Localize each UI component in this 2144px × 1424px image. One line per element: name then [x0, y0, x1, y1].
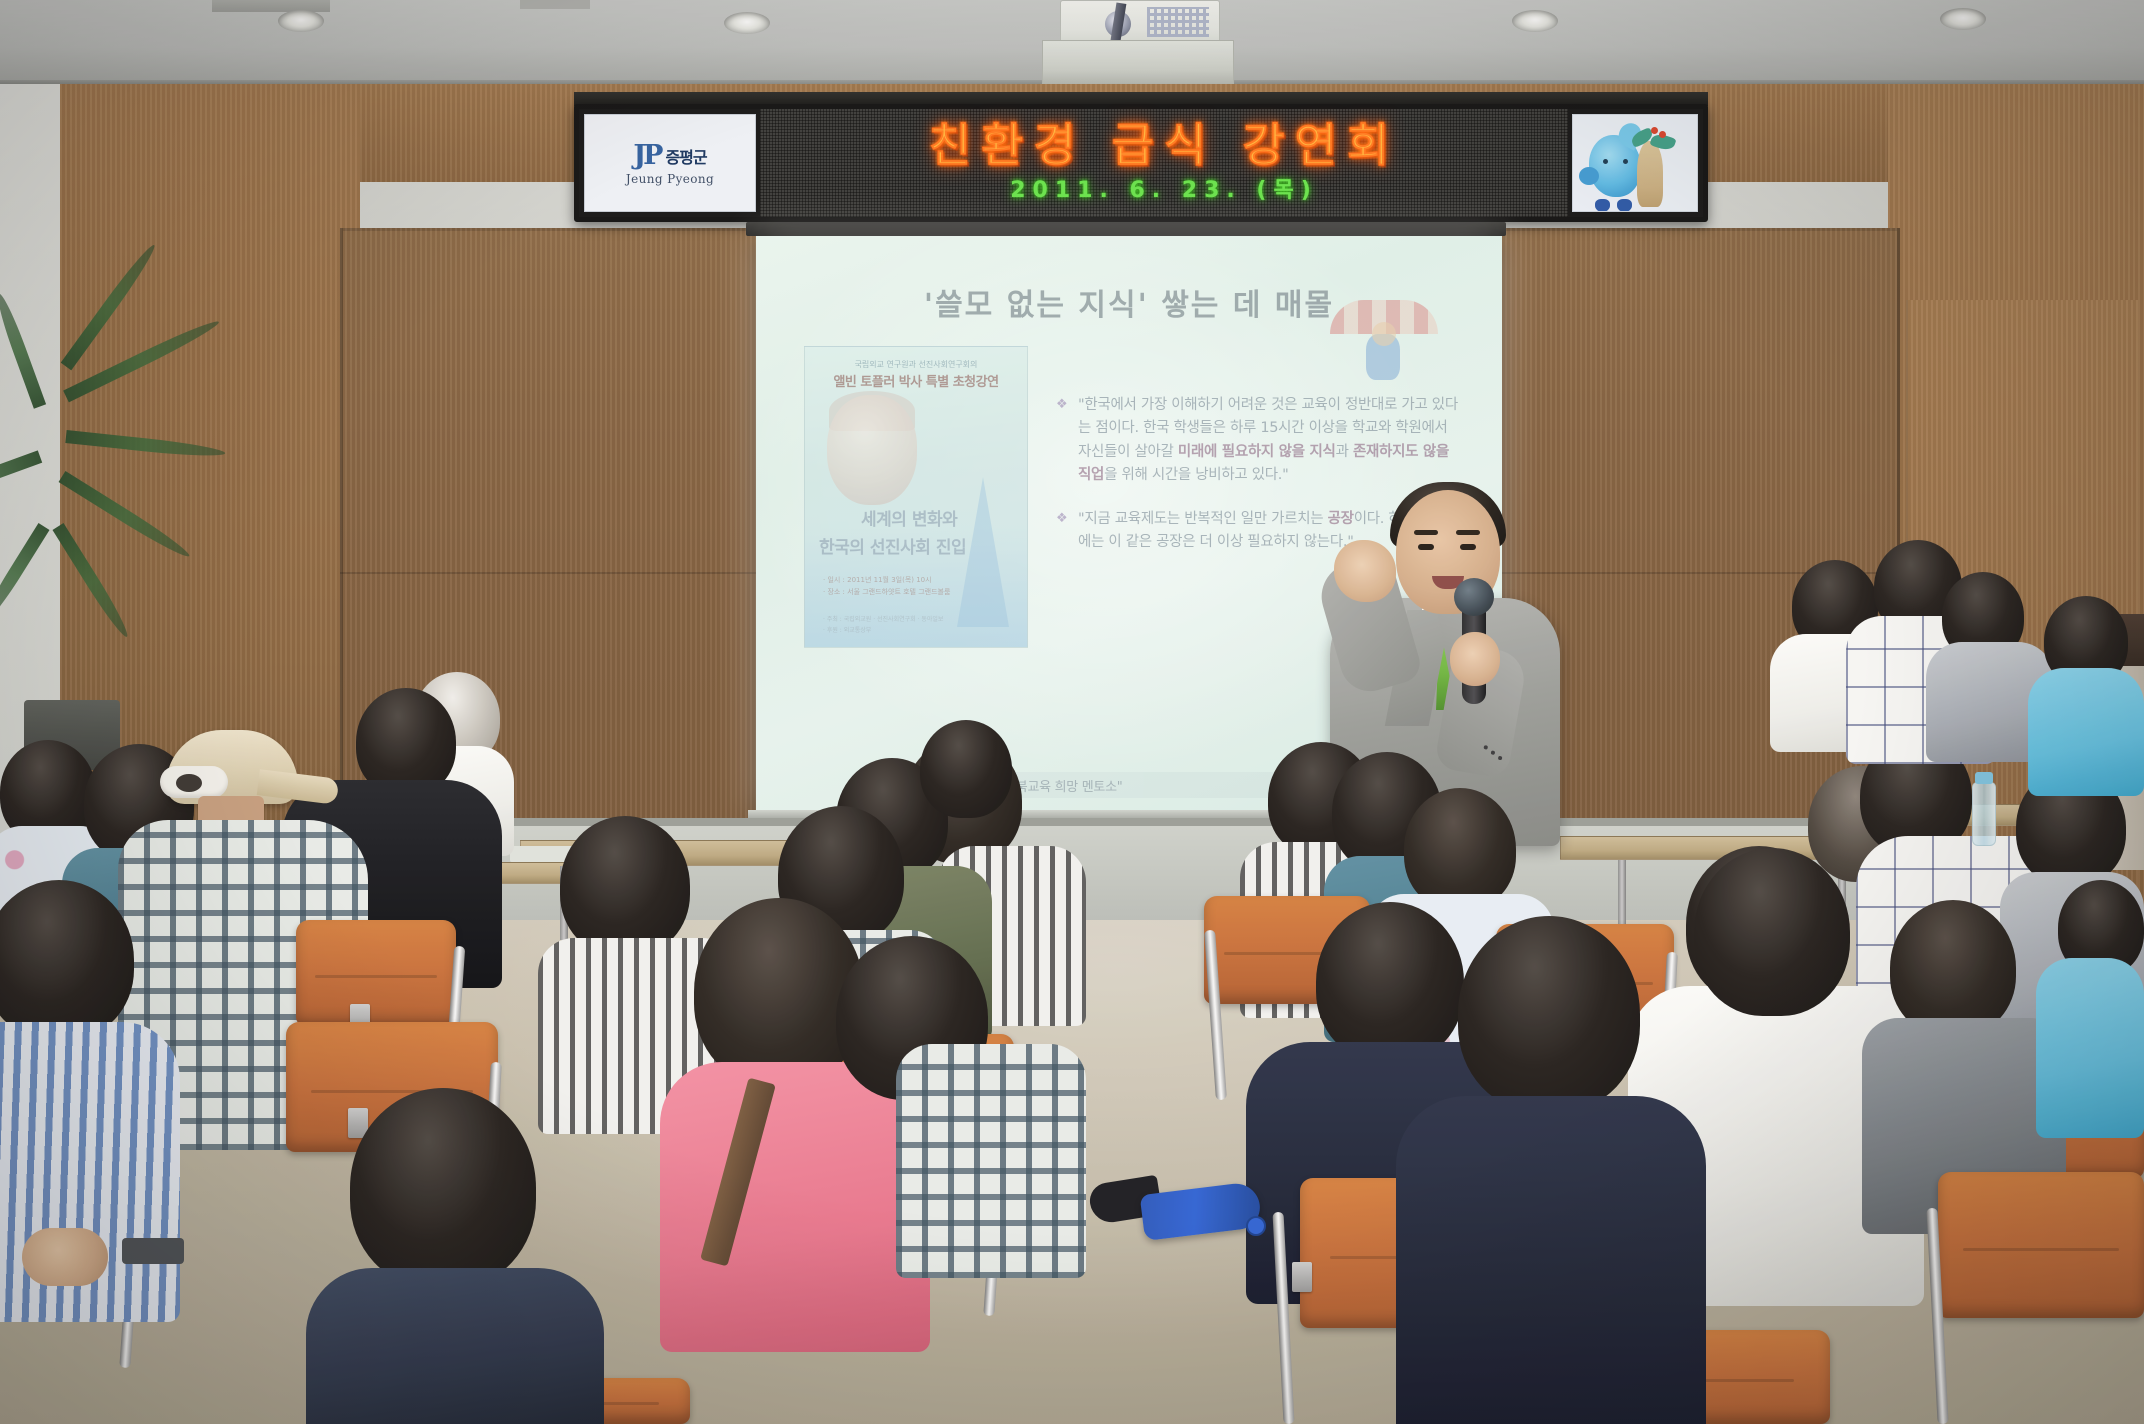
led-banner: JP 증평군 Jeung Pyeong 친환경 급식 강연회 2011. 6. … [574, 104, 1708, 222]
cap-opening [176, 774, 202, 792]
mascot-arm [1579, 167, 1599, 185]
audience-hand [22, 1228, 108, 1286]
audience-body [2036, 958, 2144, 1138]
bullet-text-middle: 과 [1336, 444, 1353, 460]
audience-head [1890, 900, 2016, 1036]
bullet-emphasis-1: 미래에 필요하지 않을 지식 [1178, 444, 1336, 460]
audience-head [1404, 788, 1516, 910]
mascot-ginseng-figure [1637, 141, 1663, 207]
poster-footer-line2: · 후원 : 외교통상부 [823, 626, 943, 637]
ceiling-downlight [278, 10, 324, 32]
audience-body [2028, 668, 2144, 796]
speaker-eye [1418, 544, 1434, 550]
speaker-hand-raised [1334, 540, 1396, 602]
auditorium-chair [296, 920, 456, 1026]
mascot-berry [1659, 131, 1666, 138]
poster-meta-line2: · 장소 : 서울 그랜드하얏트 호텔 그랜드볼룸 [823, 587, 950, 599]
speaker-hand-holding-mic [1450, 632, 1500, 686]
audience-head [1694, 848, 1850, 1016]
poster-portrait-face [827, 395, 917, 505]
audience-body [1396, 1096, 1706, 1424]
poster-meta: · 일시 : 2011년 11월 3일(목) 10시 · 장소 : 서울 그랜드… [823, 575, 950, 599]
chair-bracket [1292, 1262, 1312, 1292]
bullet-text-after: 을 위해 시간을 낭비하고 있다." [1104, 467, 1288, 483]
auditorium-chair [1938, 1172, 2144, 1318]
led-display-panel: 친환경 급식 강연회 2011. 6. 23. (목) [760, 109, 1568, 217]
projector-housing [1042, 40, 1234, 84]
clipart-figure-head [1372, 322, 1396, 346]
lecture-hall-photo: JP 증평군 Jeung Pyeong 친환경 급식 강연회 2011. 6. … [0, 0, 2144, 1424]
audience-head [350, 1088, 536, 1288]
jp-logo-mark: JP [633, 140, 660, 171]
mascot-foot [1617, 199, 1632, 212]
poster-subtitle-line2: 한국의 선진사회 진입 [819, 533, 1028, 558]
poster-subtitle-line1: 세계의 변화와 [861, 505, 1028, 530]
mascot-eye [1603, 159, 1608, 164]
poster-footer: · 주최 : 국립외교원 · 선진사회연구회 · 동아일보 · 후원 : 외교통… [823, 615, 943, 637]
speaker-eye [1460, 544, 1476, 550]
led-banner-title: 친환경 급식 강연회 [929, 122, 1400, 168]
ceiling-downlight [1940, 8, 1986, 30]
jp-logo-english: Jeung Pyeong [626, 172, 714, 186]
ceiling-vent-small [520, 0, 590, 9]
poster-headline: 앨빈 토플러 박사 특별 초청강연 [805, 371, 1027, 390]
audience-head [694, 898, 864, 1086]
bullet-emphasis-1: 공장 [1328, 511, 1354, 527]
microphone-head [1454, 578, 1494, 616]
audience-head [1316, 902, 1464, 1062]
slide-clipart [1324, 300, 1444, 390]
stage-trim [340, 818, 1900, 826]
screen-housing [746, 222, 1506, 236]
audience-body [306, 1268, 604, 1424]
audience-head [920, 720, 1012, 818]
audience-head [1458, 916, 1640, 1112]
audience-body-pink-shirt [660, 1062, 930, 1352]
led-banner-date: 2011. 6. 23. (목) [1010, 172, 1318, 204]
jp-logo-korean: 증평군 [665, 144, 706, 168]
projector-vent [1147, 7, 1209, 37]
poster-footer-line1: · 주최 : 국립외교원 · 선진사회연구회 · 동아일보 [823, 615, 943, 626]
mascot-eye [1623, 159, 1628, 164]
slide-poster-image: 국립외교 연구원과 선진사회연구회의 앨빈 토플러 박사 특별 초청강연 세계의… [804, 346, 1028, 648]
poster-eyebrow: 국립외교 연구원과 선진사회연구회의 [805, 359, 1027, 370]
poster-meta-line1: · 일시 : 2011년 11월 3일(목) 10시 [823, 575, 950, 587]
table-leg [1618, 860, 1626, 934]
mascot-foot [1595, 199, 1610, 212]
handheld-device [122, 1238, 184, 1264]
ceiling-vent [212, 0, 330, 12]
audience-head [560, 816, 690, 956]
ceiling-downlight [1512, 10, 1558, 32]
bullet-text-before: "지금 교육제도는 반복적인 일만 가르치는 [1078, 511, 1328, 527]
slide-bullet: "한국에서 가장 이해하기 어려운 것은 교육이 정반대로 가고 있다는 점이다… [1056, 394, 1464, 488]
ceiling-downlight [724, 12, 770, 34]
mascot-berry [1651, 127, 1658, 134]
speaker-eyebrow [1414, 530, 1438, 535]
umbrella-handle [1246, 1216, 1266, 1236]
mascot-icon [1572, 114, 1698, 212]
speaker-eyebrow [1456, 530, 1480, 535]
jeungpyeong-logo: JP 증평군 Jeung Pyeong [584, 114, 756, 212]
audience-body [896, 1044, 1086, 1278]
